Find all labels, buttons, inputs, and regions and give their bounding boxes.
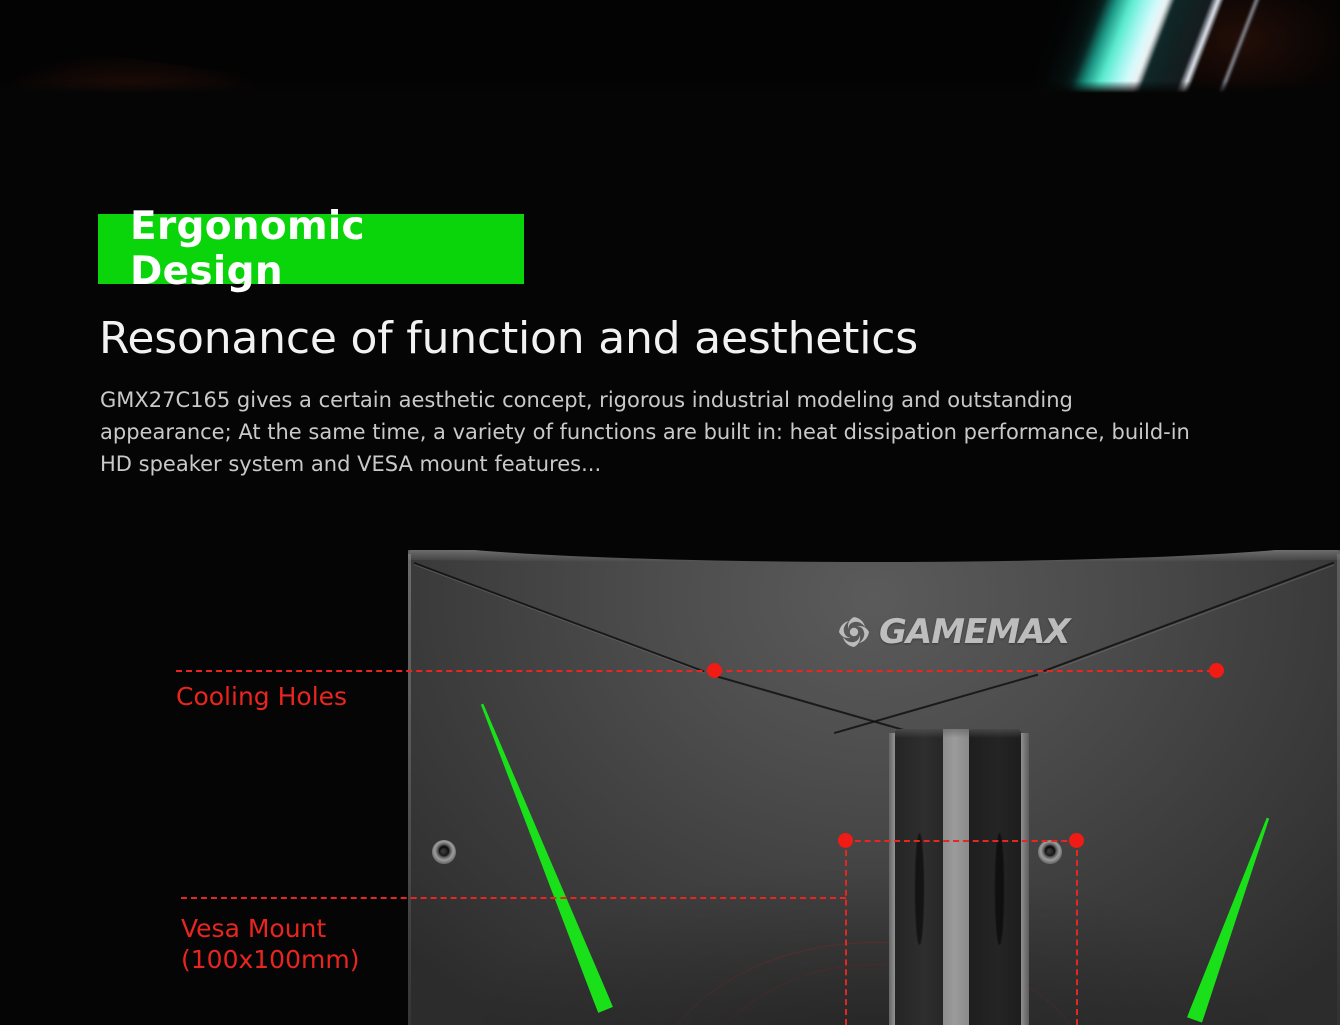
stand-vent-slot-left — [915, 833, 924, 945]
vesa-mount-label: Vesa Mount (100x100mm) — [181, 913, 359, 975]
vesa-mount-leader-line — [181, 897, 846, 899]
gamemax-brand-logo: GAMEMAX — [836, 612, 1070, 652]
stand-vent-slot-right — [995, 833, 1004, 945]
vesa-mount-marker-right — [1069, 833, 1084, 848]
cooling-holes-marker-left — [707, 663, 722, 678]
cooling-holes-marker-right — [1209, 663, 1224, 678]
vesa-box-right-edge — [1076, 840, 1078, 1025]
gamemax-swirl-icon — [836, 614, 872, 650]
vesa-box-top-edge — [845, 840, 1077, 842]
vesa-screw-hole-right — [1038, 840, 1062, 864]
cooling-holes-leader-line — [176, 670, 1223, 672]
section-badge-label: Ergonomic Design — [130, 204, 524, 294]
hero-banner-image — [0, 0, 1340, 95]
stand-side-right — [1021, 733, 1029, 1025]
gamemax-wordmark: GAMEMAX — [879, 612, 1070, 652]
page-title: Resonance of function and aesthetics — [99, 313, 918, 364]
monitor-stand-neck — [889, 729, 1029, 1025]
monitor-rear-view-image: GAMEMAX — [408, 546, 1340, 1025]
section-description: GMX27C165 gives a certain aesthetic conc… — [100, 384, 1190, 480]
vesa-screw-hole-left — [432, 840, 456, 864]
stand-panel-center — [943, 729, 969, 1025]
banner-bottom-fade — [0, 81, 1340, 95]
section-badge: Ergonomic Design — [98, 214, 524, 284]
cooling-holes-label: Cooling Holes — [176, 681, 347, 712]
stand-top-shading — [895, 729, 1021, 738]
product-detail-page: Ergonomic Design Resonance of function a… — [0, 0, 1340, 1025]
vesa-box-left-edge — [845, 840, 847, 1025]
vesa-mount-marker-left — [838, 833, 853, 848]
